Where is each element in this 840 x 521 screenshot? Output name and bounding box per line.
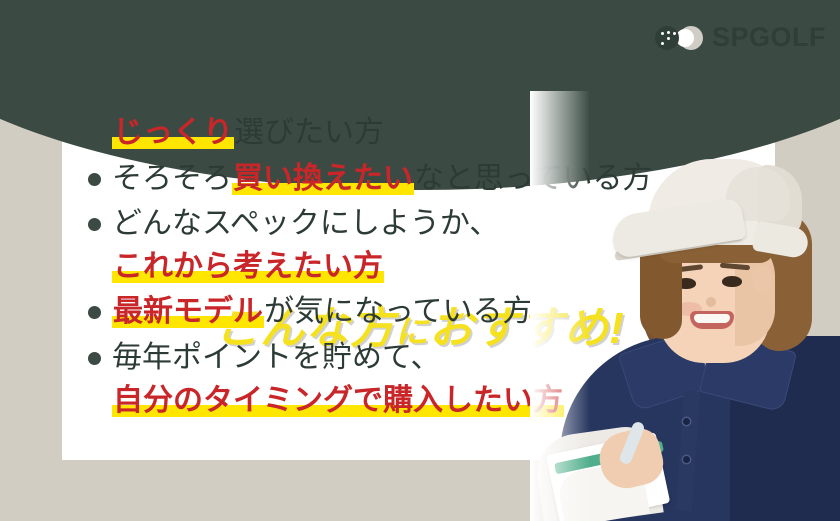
shirt-button [683,418,690,425]
brand-name: SPGOLF [712,24,826,51]
plain-text: が気になっている方 [264,295,533,328]
plain-text: そろそろ [112,162,232,195]
bullet-icon [88,127,101,140]
arc-icon [679,26,703,50]
eye-right [722,276,742,287]
golf-staff-woman-photo [530,91,840,521]
teeth [694,314,730,323]
bullet-icon [88,218,101,231]
plain-text: どんなスペックにしようか、 [112,207,499,240]
bullet-icon [88,173,101,186]
nose [706,297,716,307]
plain-text: 選びたい方 [234,116,384,149]
photo-edge-fade [530,91,590,521]
golf-ball-icon [655,26,679,50]
highlight-text: これから考えたい方 [112,250,384,283]
shirt-button [683,456,690,463]
bullet-icon [88,306,101,319]
promo-banner-stage: こんな方におすすめ! SPGOLF じっくり選びたい方 そろそろ買い換えたいなと… [0,0,840,521]
bullet-icon [88,352,101,365]
brand-logo[interactable]: SPGOLF [655,24,826,51]
highlight-text: 最新モデル [112,295,264,328]
highlight-text: じっくり [112,116,234,149]
highlight-text: 買い換えたい [232,162,414,195]
plain-text: 毎年ポイントを貯めて、 [112,341,441,374]
logo-mark [655,25,703,51]
highlight-text: 自分のタイミングで購入したい方 [112,384,564,417]
ear [752,265,772,293]
